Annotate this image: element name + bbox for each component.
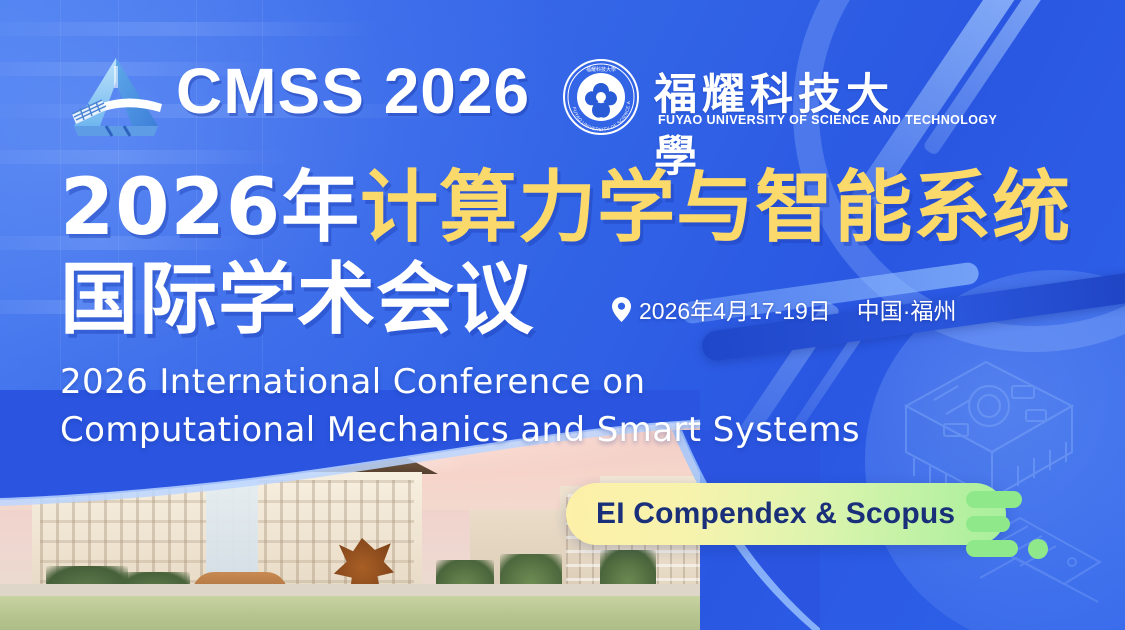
svg-text:福耀科技大學: 福耀科技大學 (586, 66, 616, 73)
conference-short-title: CMSS 2026 (176, 54, 530, 128)
title-en-line1: 2026 International Conference on (60, 358, 980, 406)
conference-date: 2026年4月17-19日 (639, 292, 831, 326)
title-cn-topic: 计算力学与智能系统 (360, 163, 1071, 253)
bg-diagonal-stripe (922, 0, 1075, 156)
conference-title-en: 2026 International Conference on Computa… (60, 358, 980, 454)
university-name-en: FUYAO UNIVERSITY OF SCIENCE AND TECHNOLO… (658, 113, 997, 127)
cmss-pyramid-bridge-logo (62, 52, 170, 140)
date-location-meta: 2026年4月17-19日 中国·福州 (612, 292, 956, 326)
title-cn-suffix: 国际学术会议 (60, 255, 534, 345)
e-bars-dot-mark-icon (966, 489, 1062, 563)
university-lockup: 福耀科技大學 FUYAO UNIVERSITY OF SCIENCE AND T… (562, 56, 902, 142)
location-pin-icon (612, 297, 631, 322)
conference-location: 中国·福州 (857, 292, 957, 326)
fuyao-university-seal: 福耀科技大學 FUYAO UNIVERSITY OF SCIENCE AND T… (562, 58, 640, 136)
bg-streak (0, 22, 380, 36)
indexing-badge-label: EI Compendex & Scopus (596, 497, 955, 531)
conference-banner: CMSS 2026 福耀科技大學 (0, 0, 1125, 630)
title-cn-year: 2026年 (60, 163, 360, 253)
indexing-badge: EI Compendex & Scopus (566, 483, 1006, 545)
title-en-line2: Computational Mechanics and Smart System… (60, 406, 980, 454)
